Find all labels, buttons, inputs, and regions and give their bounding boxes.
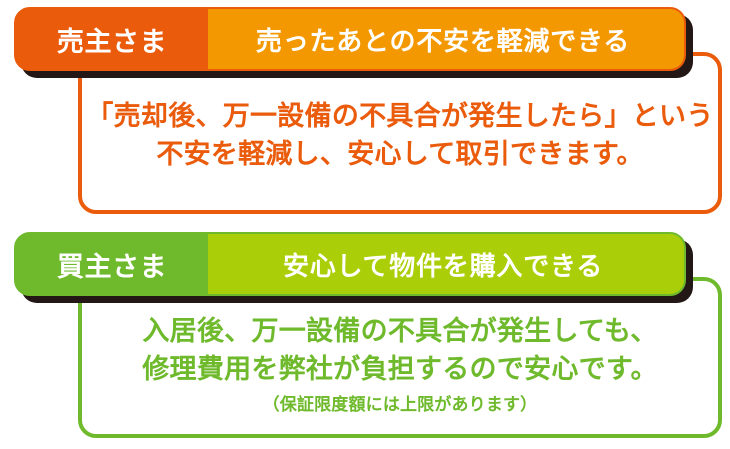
seller-benefit-banner: 売ったあとの不安を軽減できる	[208, 9, 684, 69]
seller-body-line-2: 不安を軽減し、安心して取引できます。	[82, 136, 718, 174]
seller-audience-tag: 売主さま	[16, 9, 208, 69]
seller-body-text: 「売却後、万一設備の不具合が発生したら」という 不安を軽減し、安心して取引できま…	[82, 98, 718, 175]
seller-header-pill: 売主さま 売ったあとの不安を軽減できる	[14, 7, 686, 71]
buyer-body-text: 入居後、万一設備の不具合が発生しても、 修理費用を弊社が負担するので安心です。 …	[82, 313, 718, 418]
buyer-audience-tag: 買主さま	[16, 234, 208, 294]
benefit-card-seller: 「売却後、万一設備の不具合が発生したら」という 不安を軽減し、安心して取引できま…	[0, 0, 730, 225]
seller-body-line-1: 「売却後、万一設備の不具合が発生したら」という	[82, 98, 718, 136]
buyer-body-note: （保証限度額には上限があります）	[82, 393, 718, 419]
buyer-body-line-1: 入居後、万一設備の不具合が発生しても、	[82, 313, 718, 351]
benefit-card-buyer: 入居後、万一設備の不具合が発生しても、 修理費用を弊社が負担するので安心です。 …	[0, 225, 730, 449]
buyer-body-line-2: 修理費用を弊社が負担するので安心です。	[82, 351, 718, 389]
seller-header-wrap: 売主さま 売ったあとの不安を軽減できる	[14, 7, 686, 71]
buyer-header-pill: 買主さま 安心して物件を購入できる	[14, 232, 686, 296]
buyer-benefit-banner: 安心して物件を購入できる	[208, 234, 684, 294]
graphic-root: 「売却後、万一設備の不具合が発生したら」という 不安を軽減し、安心して取引できま…	[0, 0, 730, 449]
buyer-header-wrap: 買主さま 安心して物件を購入できる	[14, 232, 686, 296]
